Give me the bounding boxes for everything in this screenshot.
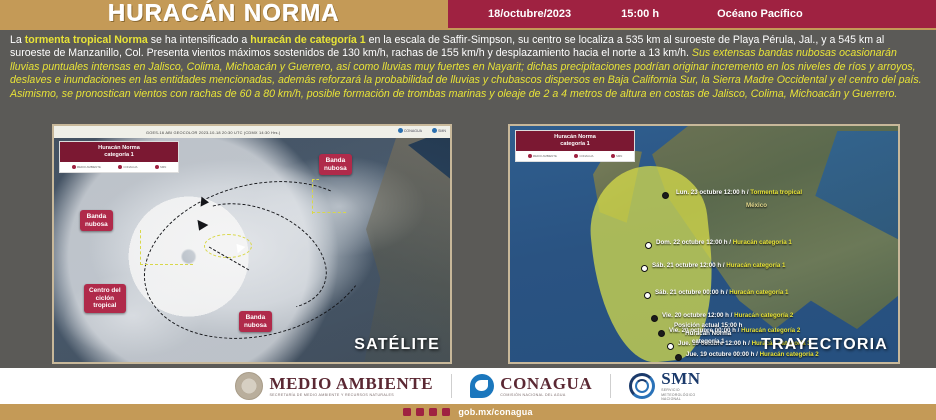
footer-logos: MEDIO AMBIENTE SECRETARÍA DE MEDIO AMBIE… — [0, 368, 936, 404]
smn-title: SMN — [661, 370, 700, 388]
track-label-4-status: Huracán categoría 1 — [729, 289, 788, 296]
site-url[interactable]: gob.mx/conagua — [458, 407, 532, 417]
badge-medio-ambiente: MEDIO AMBIENTE — [72, 165, 101, 169]
header-zone: Océano Pacífico — [717, 8, 803, 20]
satellite-source-text: GOES-16 ABI GEOCOLOR 2023-10-18 20:30 UT… — [146, 130, 280, 135]
smn-swirl-icon — [432, 128, 437, 133]
youtube-icon[interactable] — [442, 408, 450, 416]
bulletin-seg-1: La — [10, 34, 25, 46]
trajectory-badge-line-1: Huracán Norma — [554, 134, 596, 141]
header-title-block: HURACÁN NORMA — [0, 0, 448, 28]
badge-conagua-label: CONAGUA — [123, 165, 137, 169]
medio-ambiente-title: MEDIO AMBIENTE — [269, 375, 433, 393]
satellite-badge-line-1: Huracán Norma — [98, 145, 140, 152]
annotation-line-1: Banda — [85, 213, 108, 221]
badge-smn-label: SMN — [616, 154, 622, 158]
annotation-leader-2 — [312, 179, 319, 214]
medio-ambiente-subtitle: SECRETARÍA DE MEDIO AMBIENTE Y RECURSOS … — [269, 393, 433, 398]
conagua-mini-logo: CONAGUA — [398, 128, 422, 133]
bulletin-seg-2: se ha intensificado a — [148, 34, 250, 46]
water-drop-icon — [118, 165, 122, 169]
trajectory-caption: TRAYECTORIA — [761, 336, 888, 354]
satellite-source-strip: GOES-16 ABI GEOCOLOR 2023-10-18 20:30 UT… — [54, 126, 450, 138]
medio-ambiente-text: MEDIO AMBIENTE SECRETARÍA DE MEDIO AMBIE… — [269, 375, 433, 398]
national-seal-icon — [235, 372, 263, 400]
footer-smn: SMN SERVICIO METEOROLÓGICO NACIONAL — [629, 370, 700, 402]
satellite-badge-title: Huracán Norma categoría 1 — [60, 142, 178, 162]
badge-conagua: CONAGUA — [118, 165, 137, 169]
badge-smn: SMN — [611, 154, 622, 158]
badge-medio-ambiente: MEDIO AMBIENTE — [528, 154, 557, 158]
bulletin-infographic: HURACÁN NORMA 18/octubre/2023 15:00 h Oc… — [0, 0, 936, 420]
page-title: HURACÁN NORMA — [108, 0, 340, 28]
smn-text: SMN SERVICIO METEOROLÓGICO NACIONAL — [661, 370, 700, 402]
smn-swirl-icon — [629, 373, 655, 399]
footer-divider-2 — [610, 374, 611, 398]
satellite-panel[interactable]: Banda nubosa Banda nubosa Banda nubosa C… — [52, 124, 452, 364]
badge-conagua-label: CONAGUA — [579, 154, 593, 158]
track-point-6 — [658, 330, 665, 337]
smn-subtitle-3: NACIONAL — [661, 397, 700, 402]
track-point-5 — [651, 315, 658, 322]
badge-conagua: CONAGUA — [574, 154, 593, 158]
swirl-icon — [611, 154, 615, 158]
footer-conagua: CONAGUA COMISIÓN NACIONAL DEL AGUA — [470, 374, 592, 398]
satellite-badge: Huracán Norma categoría 1 MEDIO AMBIENTE… — [59, 141, 179, 173]
badge-medio-ambiente-label: MEDIO AMBIENTE — [533, 154, 557, 158]
conagua-text: CONAGUA COMISIÓN NACIONAL DEL AGUA — [500, 375, 592, 398]
water-drop-icon — [574, 154, 578, 158]
annotation-leader-2b — [312, 212, 346, 214]
conagua-subtitle: COMISIÓN NACIONAL DEL AGUA — [500, 393, 592, 398]
annotation-line-1: Banda — [244, 314, 267, 322]
facebook-icon[interactable] — [403, 408, 411, 416]
bulletin-highlight-storm: tormenta tropical Norma — [25, 34, 148, 46]
track-point-2 — [645, 242, 652, 249]
country-label: México — [746, 202, 767, 209]
header-accent-rule — [0, 28, 936, 30]
current-position-line-1: Posición actual 15:00 h — [674, 322, 742, 330]
track-point-3 — [641, 265, 648, 272]
satellite-badge-logos: MEDIO AMBIENTE CONAGUA SMN — [60, 162, 178, 172]
current-position-label: Posición actual 15:00 h Huracán Norma ca… — [674, 322, 742, 346]
swirl-icon — [155, 165, 159, 169]
satellite-caption: SATÉLITE — [354, 336, 440, 354]
track-label-5-time: Vie. 20 octubre 12:00 h / — [662, 312, 734, 319]
trajectory-badge-title: Huracán Norma categoría 1 — [516, 131, 634, 151]
track-label-3: Sáb. 21 octubre 12:00 h / Huracán catego… — [652, 262, 785, 269]
satellite-badge-line-2: categoría 1 — [104, 152, 134, 159]
annotation-line-2: nubosa — [244, 322, 267, 330]
trajectory-badge-logos: MEDIO AMBIENTE CONAGUA SMN — [516, 151, 634, 161]
track-label-2-time: Dom. 22 octubre 12:00 h / — [656, 239, 733, 246]
trajectory-badge-line-2: categoría 1 — [560, 141, 590, 148]
track-point-4 — [644, 292, 651, 299]
annotation-line-2: nubosa — [85, 221, 108, 229]
track-point-1 — [662, 192, 669, 199]
header-meta: 18/octubre/2023 15:00 h Océano Pacífico — [448, 0, 936, 28]
track-label-1-time: Lun. 23 octubre 12:00 h / — [676, 189, 750, 196]
track-label-2-status: Huracán categoría 1 — [733, 239, 792, 246]
smn-mini-logo: SMN — [432, 128, 446, 133]
annotation-banda-nubosa-south: Banda nubosa — [239, 311, 272, 332]
conagua-title: CONAGUA — [500, 375, 592, 393]
seal-icon — [72, 165, 76, 169]
track-label-5-status: Huracán categoría 2 — [734, 312, 793, 319]
badge-smn-label: SMN — [160, 165, 166, 169]
track-label-4: Sáb. 21 octubre 00:00 h / Huracán catego… — [655, 289, 788, 296]
smn-mini-label: SMN — [438, 129, 446, 133]
panels-row: Banda nubosa Banda nubosa Banda nubosa C… — [0, 124, 936, 368]
bulletin-text: La tormenta tropical Norma se ha intensi… — [0, 31, 936, 101]
footer-divider-1 — [451, 374, 452, 398]
center-line-1: Centro del — [89, 287, 121, 295]
track-point-8 — [675, 354, 682, 361]
rotation-arrow-3 — [201, 197, 210, 208]
track-label-3-time: Sáb. 21 octubre 12:00 h / — [652, 262, 726, 269]
track-label-5: Vie. 20 octubre 12:00 h / Huracán catego… — [662, 312, 793, 319]
twitter-icon[interactable] — [416, 408, 424, 416]
header-date: 18/octubre/2023 — [488, 8, 571, 20]
bulletin-highlight-category: huracán de categoría 1 — [250, 34, 365, 46]
trajectory-badge: Huracán Norma categoría 1 MEDIO AMBIENTE… — [515, 130, 635, 162]
track-label-1-status: Tormenta tropical — [750, 189, 802, 196]
footer-url-bar: gob.mx/conagua — [0, 404, 936, 420]
current-position-line-2: Huracán Norma — [674, 330, 742, 338]
center-line-2: ciclón — [89, 295, 121, 303]
conagua-mini-label: CONAGUA — [404, 129, 422, 133]
conagua-drop-icon — [398, 128, 403, 133]
badge-medio-ambiente-label: MEDIO AMBIENTE — [77, 165, 101, 169]
annotation-leader-1 — [140, 230, 193, 265]
annotation-line-2: nubosa — [324, 165, 347, 173]
track-label-2: Dom. 22 octubre 12:00 h / Huracán catego… — [656, 239, 792, 246]
satellite-brand-row: CONAGUA SMN — [398, 128, 446, 133]
header-bar: HURACÁN NORMA 18/octubre/2023 15:00 h Oc… — [0, 0, 936, 28]
center-line-3: tropical — [89, 302, 121, 310]
footer-medio-ambiente: MEDIO AMBIENTE SECRETARÍA DE MEDIO AMBIE… — [235, 372, 433, 400]
header-time: 15:00 h — [621, 8, 659, 20]
annotation-cyclone-center: Centro del ciclón tropical — [84, 284, 126, 313]
annotation-banda-nubosa-northeast: Banda nubosa — [319, 154, 352, 175]
badge-smn: SMN — [155, 165, 166, 169]
conagua-wave-icon — [470, 374, 494, 398]
track-point-7 — [667, 343, 674, 350]
track-label-3-status: Huracán categoría 1 — [726, 262, 785, 269]
current-position-line-3: categoría 1 — [674, 338, 742, 346]
track-label-1: Lun. 23 octubre 12:00 h / Tormenta tropi… — [676, 189, 802, 196]
annotation-banda-nubosa-west: Banda nubosa — [80, 210, 113, 231]
track-label-4-time: Sáb. 21 octubre 00:00 h / — [655, 289, 729, 296]
track-label-6-status: Huracán categoría 2 — [741, 327, 800, 334]
instagram-icon[interactable] — [429, 408, 437, 416]
annotation-line-1: Banda — [324, 157, 347, 165]
seal-icon — [528, 154, 532, 158]
trajectory-panel[interactable]: Lun. 23 octubre 12:00 h / Tormenta tropi… — [508, 124, 900, 364]
track-label-8-time: Jue. 19 octubre 00:00 h / — [686, 351, 760, 358]
